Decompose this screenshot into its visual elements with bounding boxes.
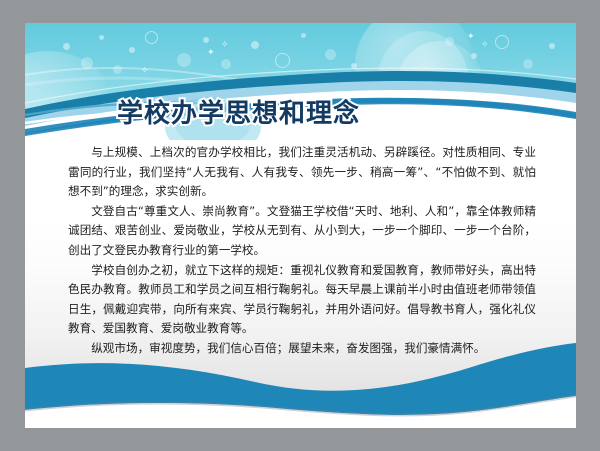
footer-wave-graphic bbox=[25, 338, 576, 428]
footer-wave bbox=[25, 338, 576, 428]
paragraph: 与上规模、上档次的官办学校相比，我们注重灵活机动、另辟蹊径。对性质相同、专业雷同… bbox=[68, 143, 536, 202]
poster-title: 学校办学思想和理念 bbox=[117, 93, 360, 130]
poster-board: ✦ ✧ ✦ ✧ ✧ bbox=[25, 23, 576, 428]
paragraph: 学校自创办之初，就立下这样的规矩：重视礼仪教育和爱国教育，教师带好头，高出特色民… bbox=[68, 261, 536, 339]
paragraph: 文登自古“尊重文人、崇尚教育”。文登猫王学校借“天时、地利、人和”，靠全体教师精… bbox=[68, 202, 536, 261]
article-body: 与上规模、上档次的官办学校相比，我们注重灵活机动、另辟蹊径。对性质相同、专业雷同… bbox=[68, 143, 536, 359]
